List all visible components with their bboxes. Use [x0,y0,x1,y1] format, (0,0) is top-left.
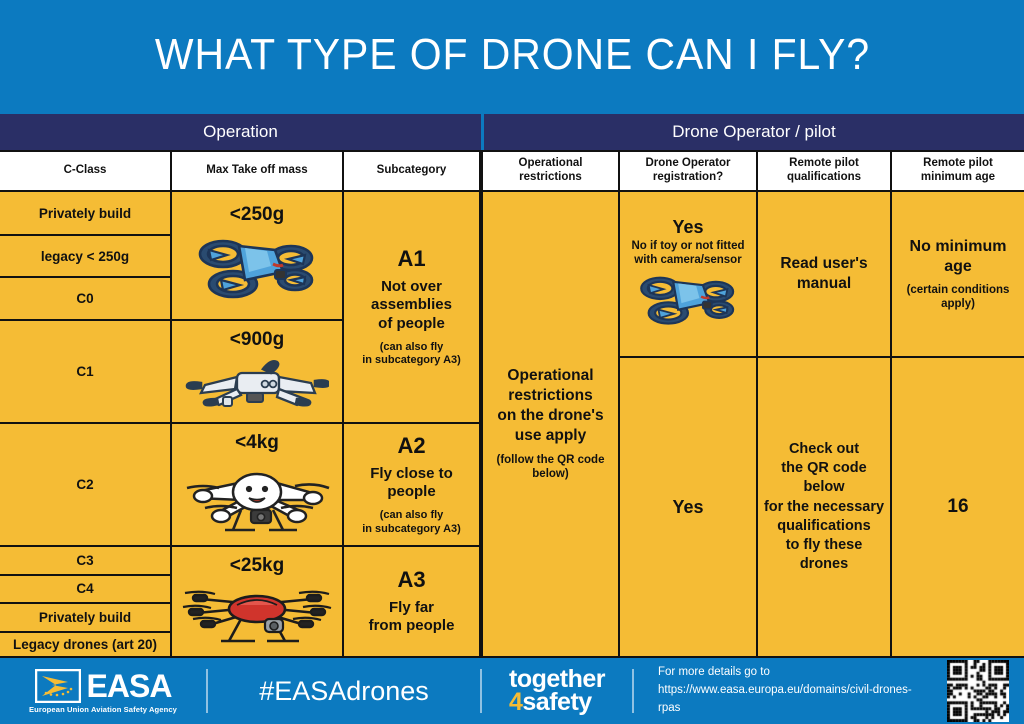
minimum-age-top-text: No minimumage [910,237,1007,277]
column-max-takeoff-mass: Max Take off mass <250g [172,152,344,656]
column-header-subcategory-label: Subcategory [377,164,447,178]
easa-logo[interactable]: EASA European Union Aviation Safety Agen… [0,669,206,714]
cell-mass-25kg: <25kg [172,547,342,656]
mass-value-900g: <900g [230,329,284,351]
column-subcategory: Subcategory A1 Not overassembliesof peop… [344,152,481,656]
footer-details-intro: For more details go to [658,664,932,682]
subcategory-code-a3: A3 [397,567,425,593]
column-header-registration: Drone Operator registration? [620,152,756,192]
cell-c-class-privately-build-a1: Privately build [0,192,170,237]
cell-subcategory-a2: A2 Fly close topeople (can also flyin su… [344,424,479,547]
cell-mass-250g: <250g [172,192,342,321]
qualifications-top-text: Read user'smanual [780,254,867,294]
cell-subcategory-a1: A1 Not overassembliesof people (can also… [344,192,479,424]
footer-divider-3 [632,669,634,713]
campaign-four: 4 [509,688,522,716]
column-operational-restrictions: Operational restrictions Operationalrest… [481,152,620,656]
column-pilot-qualifications: Remote pilot qualifications Read user'sm… [758,152,892,656]
registration-note: No if toy or not fittedwith camera/senso… [631,239,744,268]
drone-hexacopter-red-icon [181,579,333,647]
column-header-subcategory: Subcategory [344,152,479,192]
cell-c-class-privately-build-a3: Privately build [0,604,170,633]
cell-mass-900g: <900g [172,321,342,424]
column-header-mass: Max Take off mass [172,152,342,192]
minimum-age-value-16: 16 [947,496,968,518]
cell-operational-restrictions: Operationalrestrictionson the drone'suse… [483,192,618,656]
cell-c-class-c1: C1 [0,321,170,424]
group-header-pilot-label: Drone Operator / pilot [672,122,835,142]
footer-hashtag: #EASAdrones [208,676,480,707]
cell-qualifications-other: Check outthe QR codebelowfor the necessa… [758,358,890,656]
registration-value-yes-lower: Yes [672,497,703,518]
column-operator-registration: Drone Operator registration? Yes No if t… [620,152,758,656]
mass-value-25kg: <25kg [230,555,284,577]
group-header-operation-label: Operation [203,122,278,142]
column-c-class: C-Class Privately build legacy < 250g C0… [0,152,172,656]
cell-c-class-c4: C4 [0,576,170,605]
group-header-pilot: Drone Operator / pilot [484,114,1024,150]
column-header-mass-label: Max Take off mass [206,164,307,178]
cell-registration-open-a1: Yes No if toy or not fittedwith camera/s… [620,192,756,359]
cell-subcategory-a3: A3 Fly farfrom people [344,547,479,656]
column-header-restrictions: Operational restrictions [483,152,618,192]
drone-folding-white-icon [185,353,329,413]
minimum-age-note: (certain conditionsapply) [907,284,1010,312]
footer-details-url[interactable]: https://www.easa.europa.eu/domains/civil… [658,682,932,718]
together4safety-logo[interactable]: together 4safety [482,668,632,714]
subcategory-a2-description: Fly close topeople [370,465,453,502]
subcategory-code-a1: A1 [397,246,425,272]
footer-hashtag-label: #EASAdrones [259,676,429,707]
footer-divider-1 [206,669,208,713]
column-header-qualifications: Remote pilot qualifications [758,152,890,192]
drone-white-smiling-icon [181,456,333,536]
footer-details: For more details go to https://www.easa.… [634,664,932,717]
subcategory-a1-note: (can also flyin subcategory A3) [362,341,461,367]
qr-code-canvas[interactable] [947,660,1009,722]
qualifications-bottom-text: Check outthe QR codebelowfor the necessa… [764,440,884,575]
campaign-line-2: safety [522,688,591,716]
drone-quadcopter-blue-ducted-icon [630,267,746,331]
easa-logo-subtitle: European Union Aviation Safety Agency [29,705,177,714]
page-title: WHAT TYPE OF DRONE CAN I FLY? [154,30,869,80]
group-header-band: Operation Drone Operator / pilot [0,114,1024,150]
footer-divider-2 [480,669,482,713]
cell-mass-4kg: <4kg [172,424,342,547]
drone-category-table: C-Class Privately build legacy < 250g C0… [0,150,1024,658]
mass-value-250g: <250g [230,204,284,226]
cell-c-class-legacy-drones: Legacy drones (art 20) [0,633,170,656]
cell-c-class-c0: C0 [0,278,170,321]
subcategory-a1-description: Not overassembliesof people [371,278,452,333]
cell-c-class-legacy-250g: legacy < 250g [0,236,170,278]
column-header-c-class: C-Class [0,152,170,192]
restrictions-text: Operationalrestrictionson the drone'suse… [497,366,603,447]
subcategory-code-a2: A2 [397,433,425,459]
cell-c-class-c2: C2 [0,424,170,547]
cell-minimum-age-a1: No minimumage (certain conditionsapply) [892,192,1024,359]
easa-emblem-icon [35,669,81,703]
infographic-page: WHAT TYPE OF DRONE CAN I FLY? Operation … [0,0,1024,724]
subcategory-a2-note: (can also flyin subcategory A3) [362,509,461,535]
registration-value-yes: Yes [672,217,703,238]
cell-qualifications-a1: Read user'smanual [758,192,890,359]
subcategory-a3-description: Fly farfrom people [369,599,455,636]
qr-code[interactable] [932,660,1024,722]
title-bar: WHAT TYPE OF DRONE CAN I FLY? [0,0,1024,110]
restrictions-note: (follow the QR codebelow) [497,454,605,482]
mass-value-4kg: <4kg [235,432,279,454]
column-header-c-class-label: C-Class [64,164,107,178]
group-header-operation: Operation [0,114,481,150]
cell-minimum-age-other: 16 [892,358,1024,656]
cell-c-class-c3: C3 [0,547,170,576]
easa-wordmark: EASA [87,670,172,702]
column-pilot-minimum-age: Remote pilot minimum age No minimumage (… [892,152,1024,656]
drone-quadcopter-blue-ducted-icon [187,228,327,306]
footer-bar: EASA European Union Aviation Safety Agen… [0,658,1024,724]
column-header-minimum-age: Remote pilot minimum age [892,152,1024,192]
cell-registration-other: Yes [620,358,756,656]
